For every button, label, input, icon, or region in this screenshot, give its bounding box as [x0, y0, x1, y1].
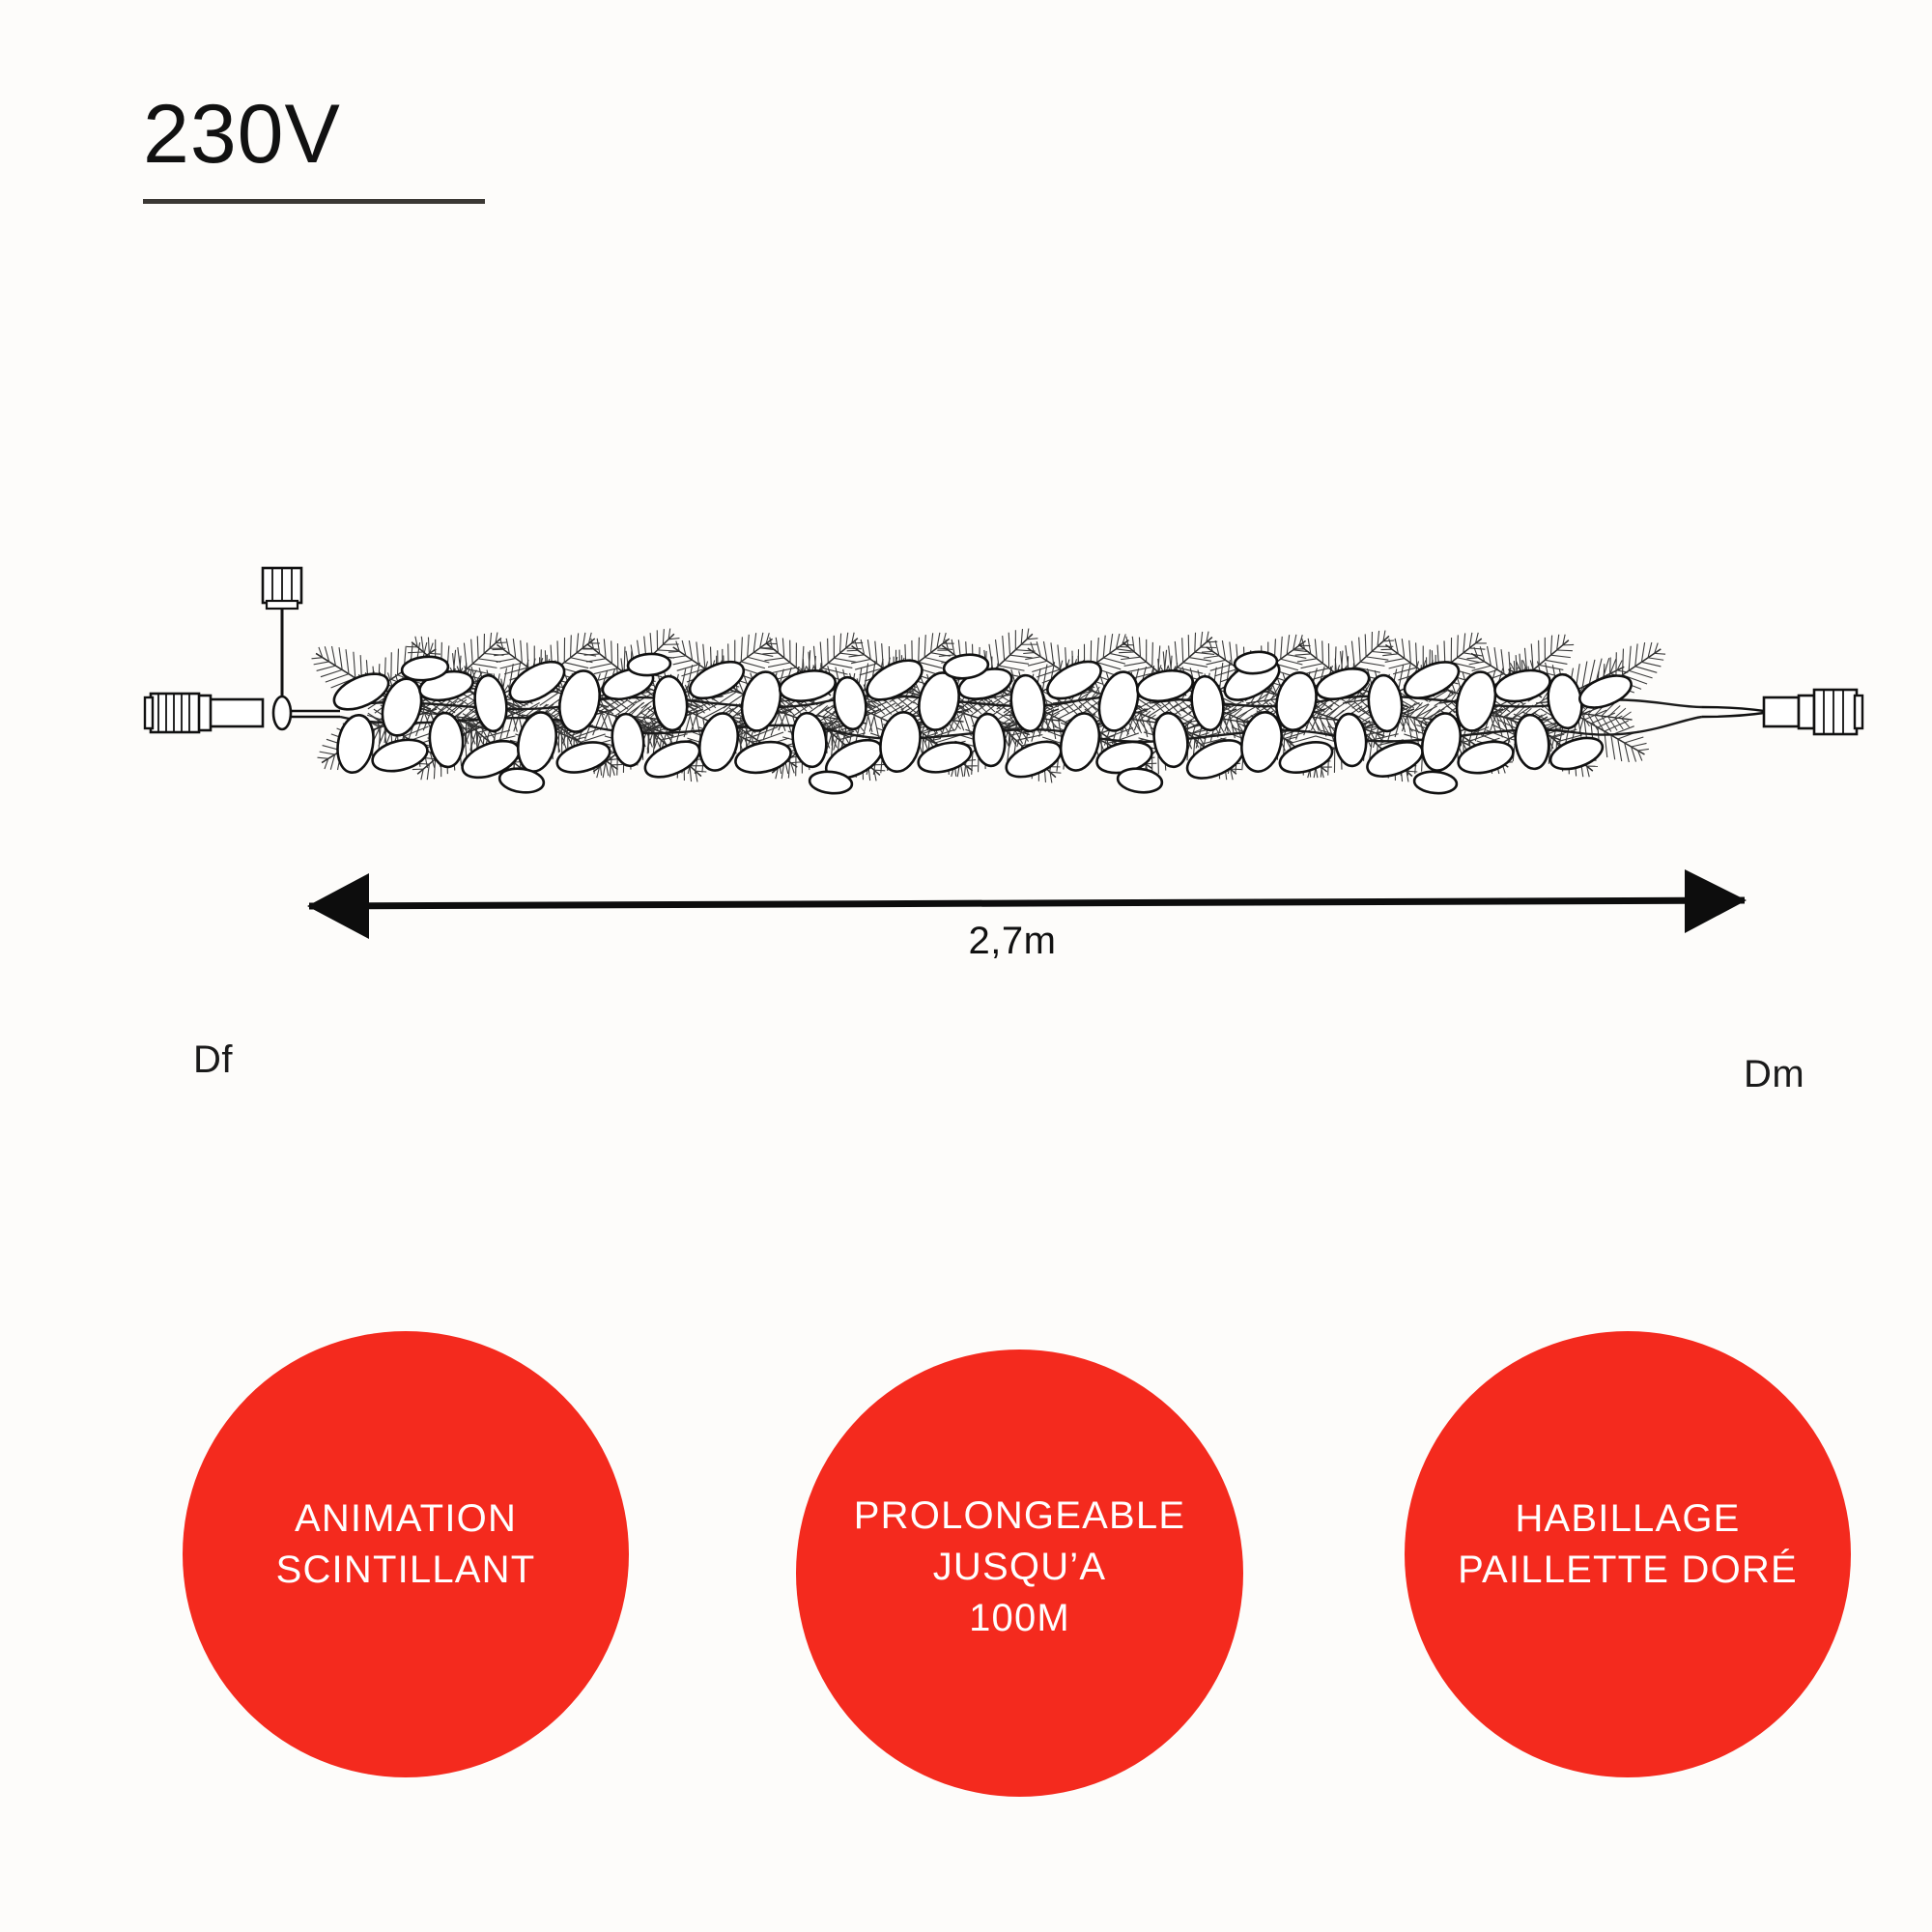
feature-badge-line: HABILLAGE — [1430, 1493, 1826, 1545]
dimension-value-label: 2,7m — [46, 920, 1932, 963]
feature-badge-line: ANIMATION — [208, 1493, 604, 1545]
feature-badge-group: ANIMATION SCINTILLANT PROLONGEABLE JUSQU… — [0, 1331, 1932, 1814]
voltage-label: 230V — [143, 93, 549, 176]
feature-badge-line: JUSQU’A — [821, 1542, 1218, 1593]
female-connector-df — [145, 568, 340, 732]
voltage-underline-rule — [143, 199, 485, 204]
feature-badge-line: 100M — [821, 1593, 1218, 1644]
led-bulbs — [328, 650, 1635, 795]
feature-badge-animation[interactable]: ANIMATION SCINTILLANT — [183, 1331, 629, 1777]
feature-badge-text: HABILLAGE PAILLETTE DORÉ — [1405, 1493, 1851, 1596]
connector-label-dm: Dm — [1744, 1053, 1804, 1096]
male-connector-dm — [1702, 690, 1862, 734]
feature-badge-text: PROLONGEABLE JUSQU’A 100M — [796, 1491, 1243, 1643]
dimension-annotation: 2,7m — [0, 860, 1932, 985]
feature-badge-line: SCINTILLANT — [208, 1545, 604, 1596]
voltage-spec-block: 230V — [143, 93, 549, 204]
feature-badge-habillage[interactable]: HABILLAGE PAILLETTE DORÉ — [1405, 1331, 1851, 1777]
feature-badge-line: PROLONGEABLE — [821, 1491, 1218, 1542]
connector-label-df: Df — [193, 1038, 233, 1082]
feature-badge-text: ANIMATION SCINTILLANT — [183, 1493, 629, 1596]
feature-badge-line: PAILLETTE DORÉ — [1430, 1545, 1826, 1596]
feature-badge-prolongeable[interactable]: PROLONGEABLE JUSQU’A 100M — [796, 1350, 1243, 1797]
